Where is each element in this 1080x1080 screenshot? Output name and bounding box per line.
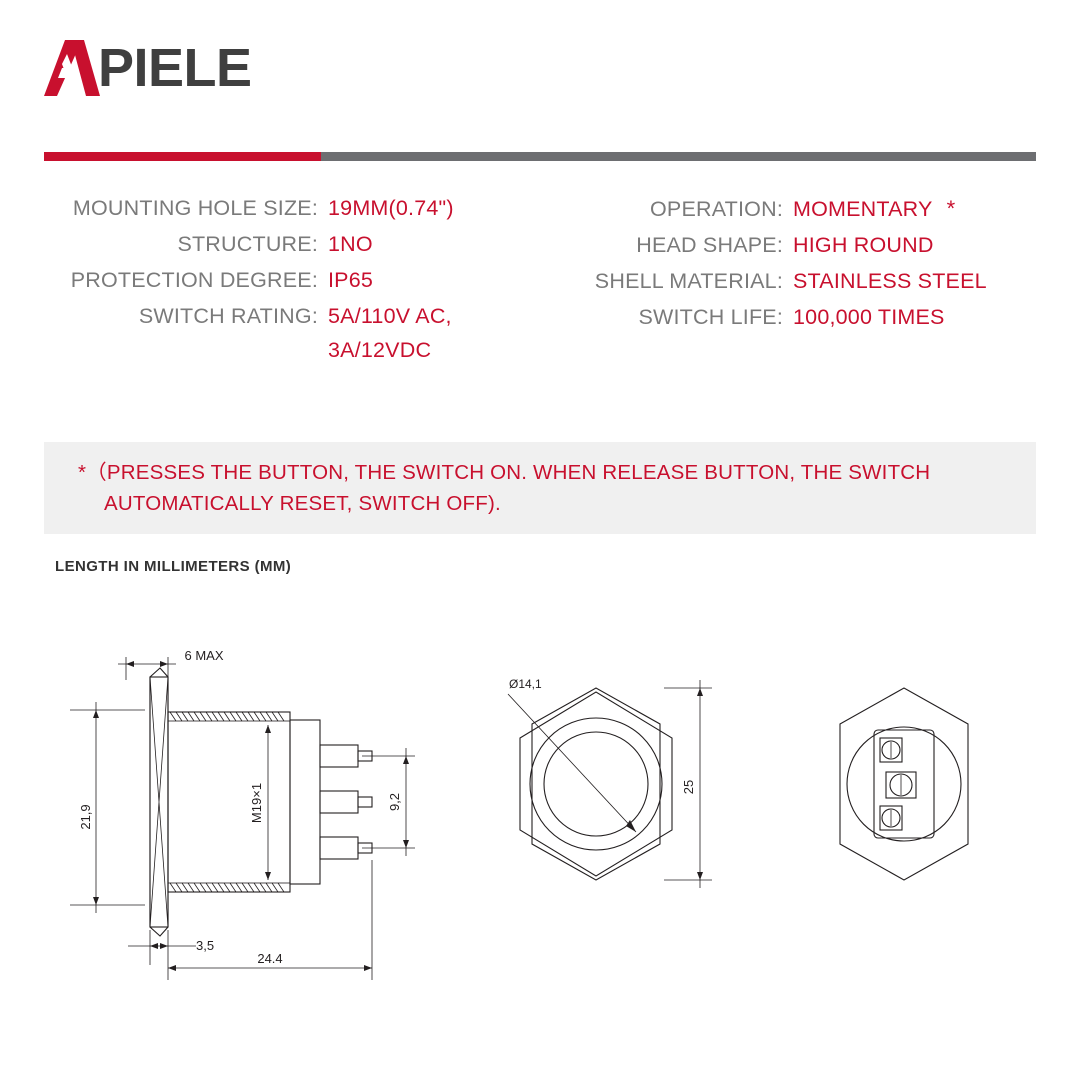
footnote-text: *（PRESSES THE BUTTON, THE SWITCH ON. WHE… [44, 442, 1036, 520]
product-spec-page: PIELE MOUNTING HOLE SIZE: 19MM(0.74") ST… [0, 0, 1080, 1080]
spec-column-left: MOUNTING HOLE SIZE: 19MM(0.74") STRUCTUR… [28, 196, 543, 374]
dim-diameter-14-1: Ø14,1 [509, 677, 542, 691]
spec-label: SWITCH LIFE: [543, 305, 793, 330]
spec-value: 100,000 TIMES [793, 305, 945, 330]
brand-logo: PIELE [44, 38, 252, 98]
dim-25: 25 [681, 780, 696, 794]
divider-grey-segment [321, 152, 1036, 161]
dim-24-4: 24.4 [257, 951, 282, 966]
footnote-box: *（PRESSES THE BUTTON, THE SWITCH ON. WHE… [44, 442, 1036, 534]
dim-21-9: 21,9 [78, 804, 93, 829]
dim-9-2: 9,2 [387, 793, 402, 811]
spec-row-operation: OPERATION: MOMENTARY* [543, 196, 1058, 222]
spec-label: STRUCTURE: [28, 232, 328, 257]
spec-row-mounting-hole-size: MOUNTING HOLE SIZE: 19MM(0.74") [28, 196, 543, 221]
footnote-line-2: AUTOMATICALLY RESET, SWITCH OFF). [78, 489, 1036, 520]
footnote-line-1: *（PRESSES THE BUTTON, THE SWITCH ON. WHE… [78, 461, 930, 484]
spec-row-switch-rating-continued: 3A/12VDC [28, 338, 543, 363]
spec-row-structure: STRUCTURE: 1NO [28, 232, 543, 257]
technical-drawings: 6 MAX 21,9 M19×1 9,2 [0, 620, 1080, 1020]
spec-value-text: MOMENTARY [793, 197, 933, 221]
spec-value: MOMENTARY* [793, 196, 955, 222]
spec-value: IP65 [328, 268, 373, 293]
spec-label: OPERATION: [543, 197, 793, 222]
dim-m19x1: M19×1 [249, 783, 264, 823]
dim-6-max: 6 MAX [184, 648, 223, 663]
spec-column-right: OPERATION: MOMENTARY* HEAD SHAPE: HIGH R… [543, 196, 1058, 374]
spec-label: SHELL MATERIAL: [543, 269, 793, 294]
spec-value-line2: 3A/12VDC [328, 338, 431, 363]
spec-label: MOUNTING HOLE SIZE: [28, 196, 328, 221]
spec-label: SWITCH RATING: [28, 304, 328, 329]
spec-label: PROTECTION DEGREE: [28, 268, 328, 293]
brand-name: PIELE [98, 41, 252, 95]
spec-row-switch-rating: SWITCH RATING: 5A/110V AC, [28, 304, 543, 329]
divider-red-segment [44, 152, 321, 161]
units-note: LENGTH IN MILLIMETERS (MM) [55, 558, 291, 575]
a-monogram-logo-icon [44, 38, 100, 98]
spec-value: HIGH ROUND [793, 233, 934, 258]
spec-row-shell-material: SHELL MATERIAL: STAINLESS STEEL [543, 269, 1058, 294]
spec-row-protection-degree: PROTECTION DEGREE: IP65 [28, 268, 543, 293]
header-divider [44, 152, 1036, 161]
spec-label: HEAD SHAPE: [543, 233, 793, 258]
spec-value: 1NO [328, 232, 373, 257]
drawing-rear-view [840, 688, 968, 880]
drawing-front-view: Ø14,1 25 [508, 677, 712, 908]
spec-value: 5A/110V AC, [328, 304, 452, 329]
spec-value: 19MM(0.74") [328, 196, 454, 221]
dim-3-5: 3,5 [196, 938, 214, 953]
specification-table: MOUNTING HOLE SIZE: 19MM(0.74") STRUCTUR… [28, 196, 1058, 374]
footnote-asterisk: * [947, 196, 956, 221]
spec-row-head-shape: HEAD SHAPE: HIGH ROUND [543, 233, 1058, 258]
drawing-side-view: 6 MAX 21,9 M19×1 9,2 [70, 648, 415, 980]
spec-value: STAINLESS STEEL [793, 269, 987, 294]
spec-row-switch-life: SWITCH LIFE: 100,000 TIMES [543, 305, 1058, 330]
